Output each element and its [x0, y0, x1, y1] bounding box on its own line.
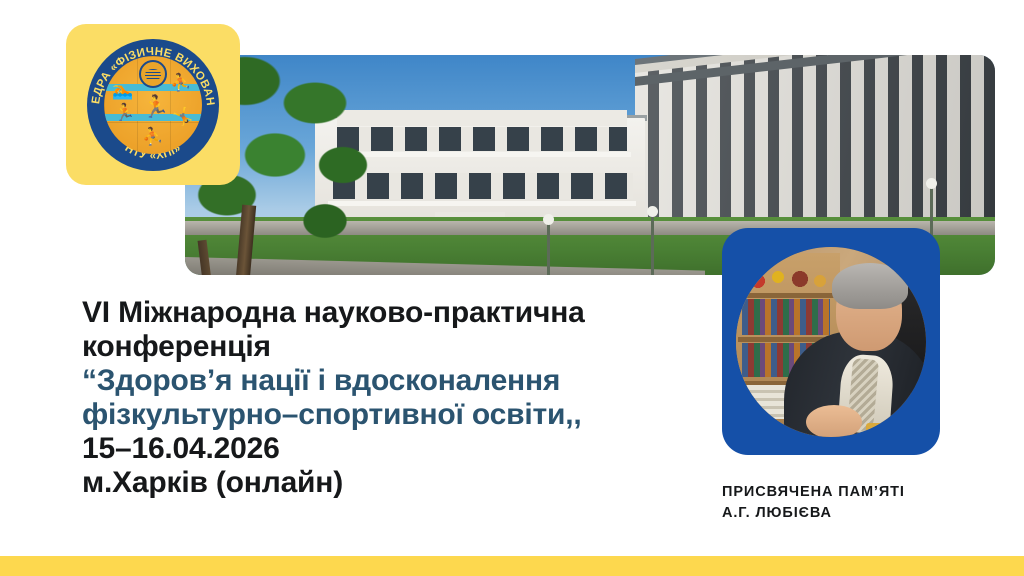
books: [742, 299, 830, 335]
conference-title-block: VI Міжнародна науково-практична конферен…: [82, 296, 682, 500]
department-logo-badge: КАФЕДРА «ФІЗИЧНЕ ВИХОВАННЯ» НТУ «ХПІ» 🏊 …: [66, 24, 240, 185]
title-line-3: “Здоров’я нації і вдосконалення: [82, 364, 682, 398]
title-line-4: фізкультурно–спортивної освіти,,: [82, 398, 682, 432]
conference-poster: КАФЕДРА «ФІЗИЧНЕ ВИХОВАННЯ» НТУ «ХПІ» 🏊 …: [0, 0, 1024, 576]
shelf-board: [738, 293, 838, 298]
basketball-player-icon: ⛹: [142, 128, 163, 145]
hands: [806, 405, 862, 437]
title-line-1: VI Міжнародна науково-практична: [82, 296, 682, 330]
logo-emblem-field: 🏊 ⛹ 🏃 🏃 🤸 ⛹: [104, 56, 202, 154]
title-line-2: конференція: [82, 330, 682, 364]
portrait-of-a-g-lyubiev: [736, 247, 926, 437]
conference-dates: 15–16.04.2026: [82, 432, 682, 466]
conference-location: м.Харків (онлайн): [82, 466, 682, 500]
trophies: [744, 261, 834, 291]
logo-ring: КАФЕДРА «ФІЗИЧНЕ ВИХОВАННЯ» НТУ «ХПІ» 🏊 …: [87, 39, 219, 171]
volleyball-player-icon: ⛹: [170, 74, 191, 91]
street-lamp: [547, 223, 550, 275]
portrait-frame: [722, 228, 940, 455]
dedication-line-1: ПРИСВЯЧЕНА ПАМ’ЯТІ: [722, 482, 905, 503]
street-lamp: [651, 215, 654, 275]
bottom-accent-band: [0, 556, 1024, 576]
gymnast-icon: 🤸: [172, 108, 193, 125]
swimmer-icon: 🏊: [112, 82, 133, 99]
wristwatch: [866, 423, 884, 433]
runner-icon: 🏃: [142, 96, 169, 118]
dedication-line-2: А.Г. ЛЮБІЄВА: [722, 503, 905, 524]
hair: [832, 263, 908, 309]
crest-icon: [139, 60, 167, 88]
wrestler-icon: 🏃: [114, 104, 135, 121]
dedication-block: ПРИСВЯЧЕНА ПАМ’ЯТІ А.Г. ЛЮБІЄВА: [722, 482, 905, 524]
